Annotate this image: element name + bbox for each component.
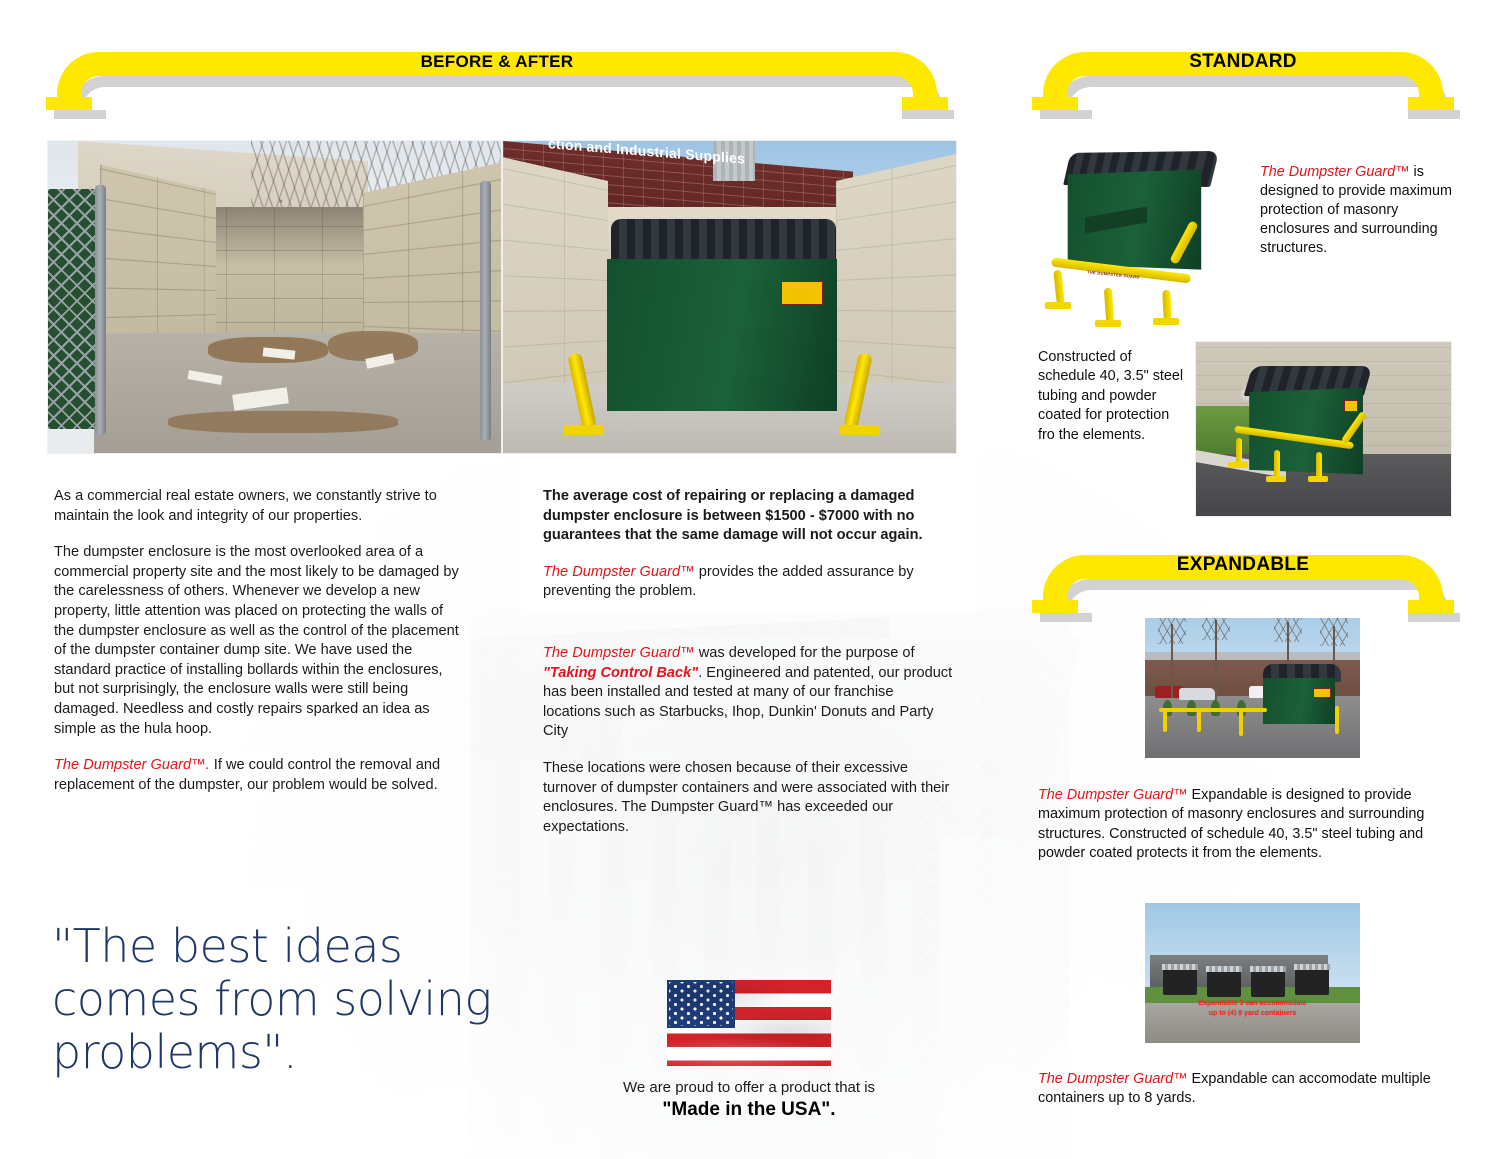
photo-caption-line2: up to (4) 8 yard containers	[1145, 1009, 1360, 1019]
brand-mark: The Dumpster Guard™	[1038, 787, 1188, 803]
standard-description-text: The Dumpster Guard™ is designed to provi…	[1260, 163, 1455, 258]
dumpster	[1207, 971, 1241, 997]
paragraph-locations: These locations were chosen because of t…	[543, 759, 955, 837]
standard-construction-text: Constructed of schedule 40, 3.5" steel t…	[1038, 348, 1188, 445]
pull-quote: "The best ideas comes from solving probl…	[52, 920, 502, 1079]
expandable-install-photo	[1140, 613, 1365, 763]
rail-foot-shadow-right	[1408, 613, 1460, 622]
paragraph-purpose: The Dumpster Guard™ was developed for th…	[543, 644, 955, 742]
before-damaged-enclosure-photo	[48, 141, 501, 453]
dumpster-lid	[611, 219, 836, 263]
usa-caption-line2: "Made in the USA".	[543, 1099, 955, 1121]
standard-install-photo	[1196, 342, 1451, 516]
expandable-description-text: The Dumpster Guard™ Expandable is design…	[1038, 786, 1452, 864]
brand-mark: The Dumpster Guard™	[543, 564, 695, 580]
rail-foot-right	[902, 97, 948, 110]
photo-caption-line1: Expandable 3 can accommodate	[1145, 999, 1360, 1009]
gate-post-left	[95, 185, 106, 435]
rail-foot-right	[1408, 600, 1454, 613]
middle-text-column: The average cost of repairing or replaci…	[543, 487, 955, 854]
warning-sticker	[1344, 400, 1358, 412]
rail-foot-right	[1408, 97, 1454, 110]
dumpster	[1251, 971, 1285, 997]
parked-car	[1179, 688, 1215, 700]
photo-caption-overlay: Expandable 3 can accommodate up to (4) 8…	[1145, 999, 1360, 1019]
bare-tree	[1215, 620, 1217, 700]
usa-flag-icon	[667, 980, 831, 1066]
brand-mark: The Dumpster Guard™	[1038, 1071, 1188, 1087]
standard-dumpster-guard-product-photo: THE DUMPSTER GUARD	[1043, 140, 1258, 335]
paragraph-assurance: The Dumpster Guard™ provides the added a…	[543, 563, 955, 602]
bare-tree	[1171, 624, 1173, 698]
header-title-before-after: BEFORE & AFTER	[57, 49, 937, 75]
rail-foot-left	[1032, 97, 1078, 110]
left-text-column: As a commercial real estate owners, we c…	[54, 487, 466, 812]
header-title-standard: STANDARD	[1043, 49, 1443, 75]
paragraph-intro: As a commercial real estate owners, we c…	[54, 487, 466, 526]
paragraph-solution: The Dumpster Guard™. If we could control…	[54, 756, 466, 795]
brand-mark: The Dumpster Guard™.	[54, 757, 210, 773]
rail-foot-left	[1032, 600, 1078, 613]
expandable-capacity-text: The Dumpster Guard™ Expandable can accom…	[1038, 1070, 1452, 1109]
paragraph-cost: The average cost of repairing or replaci…	[543, 487, 955, 546]
rail-leg	[1197, 710, 1201, 732]
rail-foot-shadow-right	[1408, 110, 1460, 119]
made-in-usa-block: We are proud to offer a product that is …	[543, 980, 955, 1121]
paragraph-problem: The dumpster enclosure is the most overl…	[54, 543, 466, 739]
dumpster-body	[1263, 678, 1335, 724]
rail-foot-shadow-left	[1040, 613, 1092, 622]
dumpster	[1163, 969, 1197, 995]
rail-leg	[1239, 710, 1243, 736]
brand-mark: The Dumpster Guard™	[1260, 164, 1410, 180]
gate-post-right	[480, 181, 491, 441]
after-protected-enclosure-photo: ction and Industrial Supplies	[503, 141, 956, 453]
rail-leg	[1335, 706, 1339, 734]
taking-control-back-quote: "Taking Control Back"	[543, 665, 698, 681]
header-rail-before-after: BEFORE & AFTER	[57, 52, 937, 110]
rail-foot-shadow-left	[1040, 110, 1092, 119]
warning-sticker	[1313, 688, 1331, 698]
rail-foot-shadow-right	[902, 110, 954, 119]
rail-leg	[1163, 710, 1167, 732]
paragraph-purpose-part1: was developed for the purpose of	[695, 645, 915, 661]
usa-caption-line1: We are proud to offer a product that is	[543, 1079, 955, 1096]
rail-foot-left	[46, 97, 92, 110]
brand-mark: The Dumpster Guard™	[543, 645, 695, 661]
header-rail-standard: STANDARD	[1043, 52, 1443, 110]
header-title-expandable: EXPANDABLE	[1043, 552, 1443, 578]
expandable-rail	[1159, 708, 1267, 712]
leaf-debris	[168, 411, 398, 433]
expandable-multi-container-photo: Expandable 3 can accommodate up to (4) 8…	[1140, 898, 1365, 1048]
header-rail-expandable: EXPANDABLE	[1043, 555, 1443, 613]
rail-foot-shadow-left	[54, 110, 106, 119]
dumpster	[1295, 969, 1329, 995]
warning-sticker	[781, 281, 823, 305]
